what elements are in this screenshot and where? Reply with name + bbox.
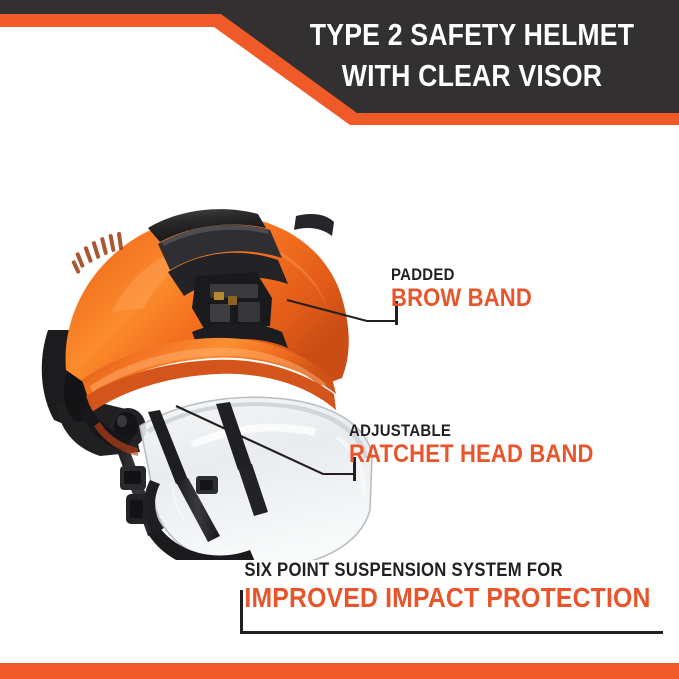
infographic-root: TYPE 2 SAFETY HELMET WITH CLEAR VISOR bbox=[0, 0, 679, 679]
page-title: TYPE 2 SAFETY HELMET WITH CLEAR VISOR bbox=[300, 14, 644, 96]
callout-brow-band-main: BROW BAND bbox=[391, 284, 532, 312]
header-banner: TYPE 2 SAFETY HELMET WITH CLEAR VISOR bbox=[0, 0, 679, 130]
bottom-feature-sub: SIX POINT SUSPENSION SYSTEM FOR bbox=[240, 560, 618, 582]
callout-head-band-sub: ADJUSTABLE bbox=[349, 421, 594, 440]
product-image bbox=[20, 180, 410, 560]
footer-accent-bar bbox=[0, 663, 679, 679]
callout-head-band-main: RATCHET HEAD BAND bbox=[349, 440, 594, 468]
page-title-line1: TYPE 2 SAFETY HELMET bbox=[310, 17, 634, 52]
page-title-line2: WITH CLEAR VISOR bbox=[300, 55, 644, 96]
bottom-feature-text: SIX POINT SUSPENSION SYSTEM FOR IMPROVED… bbox=[240, 560, 670, 614]
callout-ratchet-head-band: ADJUSTABLE RATCHET HEAD BAND bbox=[349, 421, 627, 468]
header-accent-block bbox=[350, 111, 679, 125]
bottom-feature-main: IMPROVED IMPACT PROTECTION bbox=[240, 582, 621, 614]
bottom-bracket-vertical bbox=[240, 590, 243, 634]
bottom-bracket-underline bbox=[240, 631, 663, 634]
callout-brow-band: PADDED BROW BAND bbox=[391, 265, 551, 312]
callout-brow-band-sub: PADDED bbox=[391, 265, 532, 284]
